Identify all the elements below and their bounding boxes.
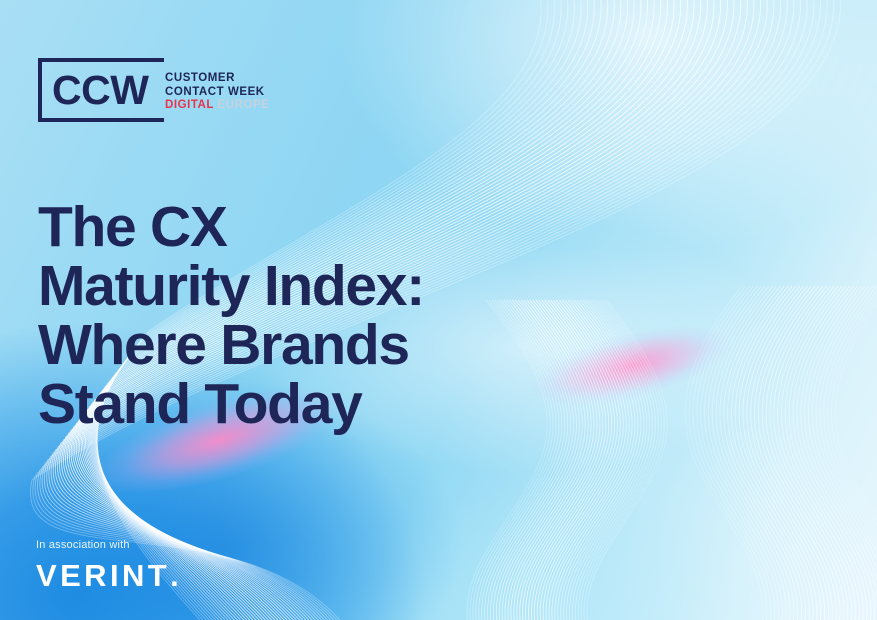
page-title-line-3: Where Brands xyxy=(38,316,508,375)
logo-tagline-line-1: CUSTOMER xyxy=(165,72,269,86)
sponsor-logo-verint: VERINT. xyxy=(36,560,296,592)
sponsor-mark-dot: . xyxy=(170,558,179,593)
logo-tagline-line-3: DIGITAL EUROPE xyxy=(165,99,269,113)
page-title-line-1: The CX xyxy=(38,198,508,257)
sponsor-footer: In association with VERINT. xyxy=(36,539,296,592)
page-title-line-4: Stand Today xyxy=(38,375,508,434)
report-cover-slide: CCW CUSTOMER CONTACT WEEK DIGITAL EUROPE… xyxy=(0,0,877,620)
association-label: In association with xyxy=(36,539,296,551)
logo-tagline: CUSTOMER CONTACT WEEK DIGITAL EUROPE xyxy=(165,72,269,113)
page-title: The CX Maturity Index: Where Brands Stan… xyxy=(38,198,508,434)
sponsor-name: VERINT xyxy=(36,558,170,593)
logo-frame: CCW xyxy=(38,58,164,122)
page-title-line-2: Maturity Index: xyxy=(38,257,508,316)
ccw-logo: CCW CUSTOMER CONTACT WEEK DIGITAL EUROPE xyxy=(38,58,288,122)
logo-tagline-digital: DIGITAL xyxy=(165,99,214,111)
logo-tagline-line-2: CONTACT WEEK xyxy=(165,86,269,100)
logo-frame-bottom-bar xyxy=(38,118,164,122)
logo-frame-top-bar xyxy=(38,58,164,62)
logo-tagline-europe: EUROPE xyxy=(218,99,270,111)
logo-frame-left-bar xyxy=(38,58,42,122)
logo-wordmark: CCW xyxy=(52,66,148,114)
